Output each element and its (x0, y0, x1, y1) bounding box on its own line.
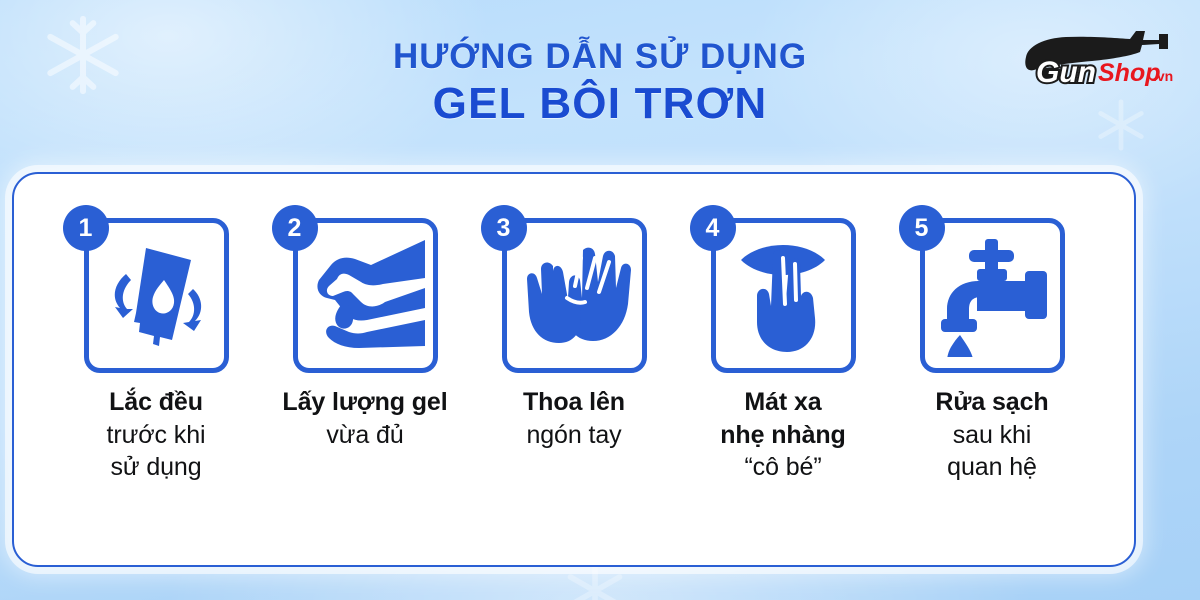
step-3-icon-box: 3 (502, 218, 647, 373)
step-3: 3 (476, 218, 672, 451)
step-3-caption: Thoa lên ngón tay (469, 386, 679, 451)
hands-dispense-gel-icon (305, 234, 425, 358)
step-1-icon-box: 1 (84, 218, 229, 373)
svg-text:Gun: Gun (1036, 56, 1096, 89)
step-4-badge: 4 (690, 205, 736, 251)
step-4-line-2: nhẹ nhàng (678, 419, 888, 452)
step-5-line-2: sau khi (887, 419, 1097, 452)
step-1-line-1: Lắc đều (51, 386, 261, 419)
step-2-badge: 2 (272, 205, 318, 251)
steps-row: 1 Lắ (14, 174, 1134, 565)
step-4-caption: Mát xa nhẹ nhàng “cô bé” (678, 386, 888, 484)
page-header: HƯỚNG DẪN SỬ DỤNG GEL BÔI TRƠN Gun Shop … (0, 0, 1200, 170)
rubbing-hands-icon (515, 238, 633, 354)
step-1-caption: Lắc đều trước khi sử dụng (51, 386, 261, 484)
step-1: 1 Lắ (58, 218, 254, 484)
infographic-canvas: HƯỚNG DẪN SỬ DỤNG GEL BÔI TRƠN Gun Shop … (0, 0, 1200, 600)
step-4-icon-box: 4 (711, 218, 856, 373)
step-2-line-2: vừa đủ (260, 419, 470, 452)
faucet-water-icon (933, 235, 1051, 357)
step-3-line-2: ngón tay (469, 419, 679, 452)
step-5-line-1: Rửa sạch (887, 386, 1097, 419)
step-2: 2 Lấy lượng gel vừa đủ (267, 218, 463, 451)
step-5-caption: Rửa sạch sau khi quan hệ (887, 386, 1097, 484)
step-5-badge: 5 (899, 205, 945, 251)
step-5: 5 (894, 218, 1090, 484)
step-2-caption: Lấy lượng gel vừa đủ (260, 386, 470, 451)
brand-logo[interactable]: Gun Shop .vn (1012, 26, 1178, 92)
step-1-line-2: trước khi (51, 419, 261, 452)
step-4: 4 (685, 218, 881, 484)
step-1-line-3: sử dụng (51, 451, 261, 484)
steps-panel: 1 Lắ (12, 172, 1136, 567)
step-5-icon-box: 5 (920, 218, 1065, 373)
step-4-line-1: Mát xa (678, 386, 888, 419)
step-5-line-3: quan hệ (887, 451, 1097, 484)
logo-text-gun: Gun (1036, 56, 1096, 89)
step-3-badge: 3 (481, 205, 527, 251)
step-2-line-1: Lấy lượng gel (260, 386, 470, 419)
step-1-badge: 1 (63, 205, 109, 251)
logo-text-shop: Shop (1098, 59, 1161, 87)
step-3-line-1: Thoa lên (469, 386, 679, 419)
step-4-line-3: “cô bé” (678, 451, 888, 484)
logo-text-tld: .vn (1153, 68, 1173, 84)
step-2-icon-box: 2 (293, 218, 438, 373)
gel-bottle-shake-icon (98, 234, 214, 358)
two-finger-massage-icon (727, 234, 839, 358)
